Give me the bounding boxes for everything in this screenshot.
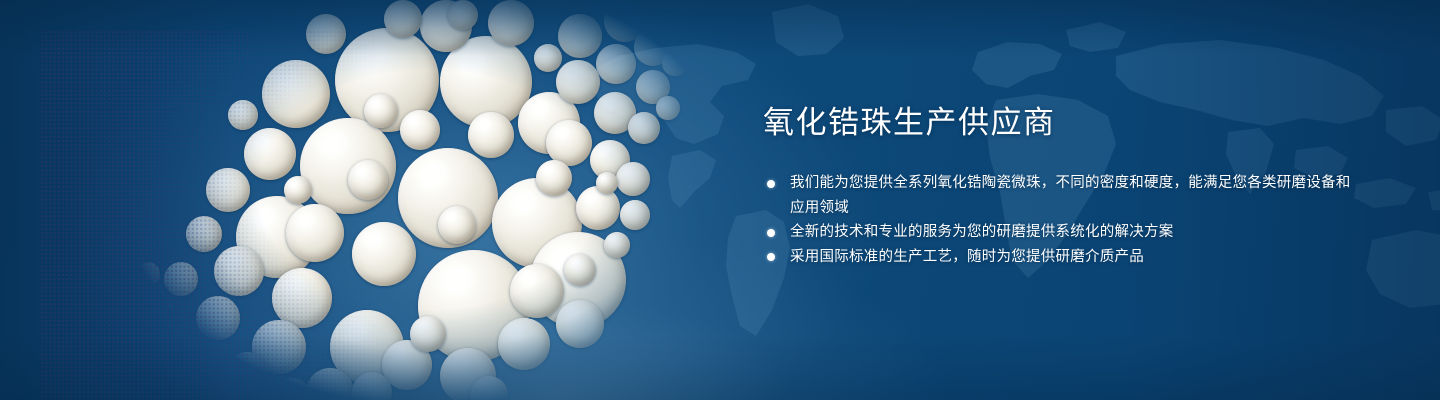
list-item: 全新的技术和专业的服务为您的研磨提供系统化的解决方案 bbox=[763, 220, 1363, 245]
feature-list: 我们能为您提供全系列氧化锆陶瓷微珠，不同的密度和硬度，能满足您各类研磨设备和应用… bbox=[763, 171, 1363, 269]
hero-banner: 氧化锆珠生产供应商 我们能为您提供全系列氧化锆陶瓷微珠，不同的密度和硬度，能满足… bbox=[0, 0, 1440, 400]
bullet-dot-icon bbox=[767, 229, 775, 237]
banner-content: 氧化锆珠生产供应商 我们能为您提供全系列氧化锆陶瓷微珠，不同的密度和硬度，能满足… bbox=[763, 104, 1363, 269]
list-item-text: 全新的技术和专业的服务为您的研磨提供系统化的解决方案 bbox=[790, 224, 1174, 240]
list-item-text: 采用国际标准的生产工艺，随时为您提供研磨介质产品 bbox=[790, 249, 1144, 265]
list-item-text: 我们能为您提供全系列氧化锆陶瓷微珠，不同的密度和硬度，能满足您各类研磨设备和应用… bbox=[790, 175, 1351, 216]
bullet-dot-icon bbox=[767, 180, 775, 188]
bullet-dot-icon bbox=[767, 253, 775, 261]
list-item: 采用国际标准的生产工艺，随时为您提供研磨介质产品 bbox=[763, 245, 1363, 270]
page-title: 氧化锆珠生产供应商 bbox=[763, 104, 1363, 142]
list-item: 我们能为您提供全系列氧化锆陶瓷微珠，不同的密度和硬度，能满足您各类研磨设备和应用… bbox=[763, 171, 1363, 220]
